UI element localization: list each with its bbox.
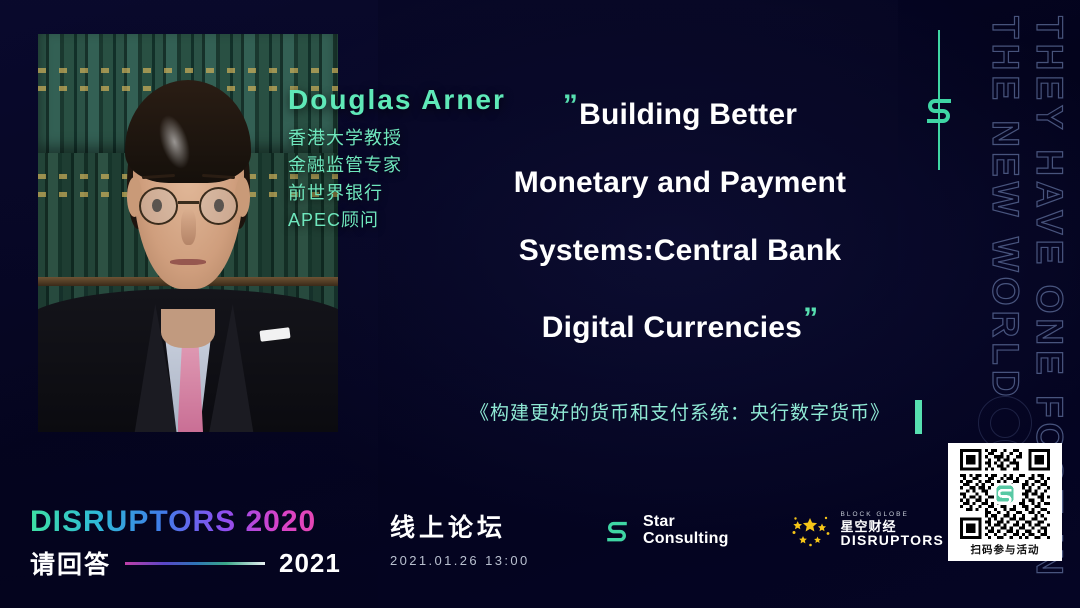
event-brand-year: 2021 bbox=[279, 548, 341, 579]
speaker-credential-0: 香港大学教授 bbox=[288, 125, 506, 152]
star-consulting-s-icon bbox=[600, 513, 634, 547]
speaker-credential-2: 前世界银行 bbox=[288, 180, 506, 207]
talk-title-text-3: Digital Currencies bbox=[542, 311, 802, 344]
slide-canvas: Douglas Arner 香港大学教授 金融监管专家 前世界银行 APEC顾问… bbox=[0, 0, 1080, 608]
qr-code-icon[interactable] bbox=[954, 449, 1056, 539]
speaker-credential-1: 金融监管专家 bbox=[288, 152, 506, 179]
talk-title-text-0: Building Better bbox=[579, 98, 797, 131]
open-quote-mark: ” bbox=[563, 89, 578, 122]
sponsor-block-globe: BLOCK GLOBE 星空财经 DISRUPTORS bbox=[789, 512, 945, 548]
talk-subtitle-cn: 《构建更好的货币和支付系统：央行数字货币》 bbox=[420, 398, 940, 425]
forum-name: 线上论坛 bbox=[390, 508, 530, 544]
speaker-credential-3: APEC顾问 bbox=[288, 207, 506, 234]
s-monogram-icon bbox=[918, 88, 960, 130]
talk-title-line-3: Digital Currencies” bbox=[420, 285, 940, 362]
eyeglasses-left-lens bbox=[139, 187, 178, 225]
speaker-credentials: 香港大学教授 金融监管专家 前世界银行 APEC顾问 bbox=[288, 125, 506, 234]
forum-info: 线上论坛 2021.01.26 13:00 bbox=[390, 508, 530, 568]
qr-card[interactable]: 扫码参与活动 bbox=[948, 443, 1062, 561]
accent-rule-bottom bbox=[938, 128, 940, 170]
vertical-tagline-line-2: THE NEW WORLD bbox=[984, 16, 1026, 402]
qr-accent-bar bbox=[915, 400, 922, 434]
sponsor-name-line-2: Consulting bbox=[643, 530, 729, 547]
eyeglasses-right-lens bbox=[199, 187, 238, 225]
sponsor-name-line-1: Star bbox=[643, 513, 729, 530]
sponsor-star-consulting: Star Consulting bbox=[600, 513, 729, 548]
sponsor-name-cn: 星空财经 bbox=[841, 520, 945, 534]
star-cluster-icon bbox=[789, 512, 833, 548]
event-brand-cn: 请回答 bbox=[30, 545, 111, 581]
event-brand-title: DISRUPTORS 2020 bbox=[30, 505, 341, 539]
vertical-tagline: THEY HAVE ONE FOOT IN THE NEW WORLD bbox=[920, 0, 1080, 500]
sponsor-tagline-en: BLOCK GLOBE bbox=[841, 512, 945, 519]
close-quote-mark: ” bbox=[803, 302, 818, 335]
sponsor-name-en: DISRUPTORS bbox=[841, 533, 945, 548]
qr-caption: 扫码参与活动 bbox=[954, 539, 1056, 561]
sponsor-logos: Star Consulting BLOCK GLOBE 星空 bbox=[600, 512, 944, 548]
speaker-name: Douglas Arner bbox=[288, 84, 506, 116]
gradient-divider bbox=[125, 562, 265, 565]
event-brand: DISRUPTORS 2020 请回答 2021 bbox=[30, 505, 341, 581]
sponsor-star-consulting-name: Star Consulting bbox=[643, 513, 729, 548]
forum-datetime: 2021.01.26 13:00 bbox=[390, 553, 530, 568]
speaker-info: Douglas Arner 香港大学教授 金融监管专家 前世界银行 APEC顾问 bbox=[288, 84, 506, 234]
